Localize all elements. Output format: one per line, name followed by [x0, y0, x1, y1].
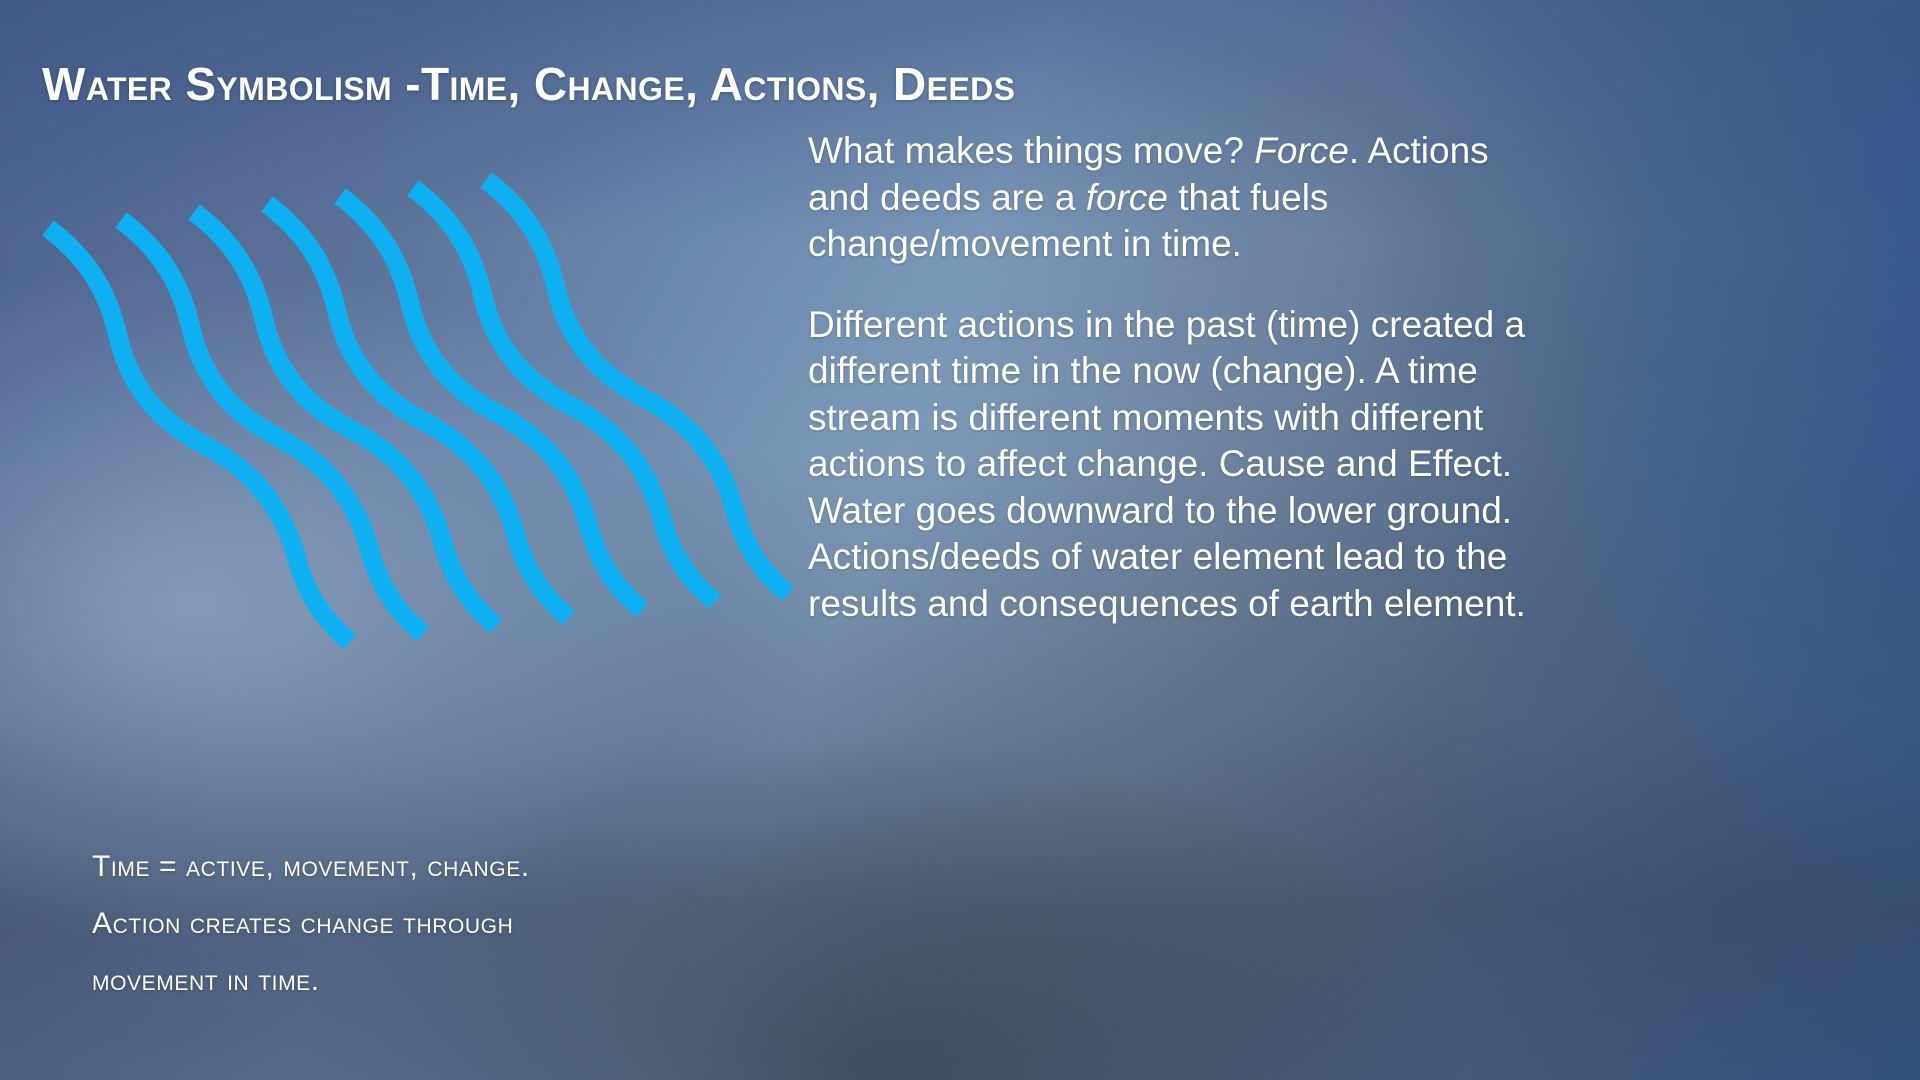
page-title: Water Symbolism -Time, Change, Actions, …: [42, 59, 1542, 110]
water-waves-icon: [0, 150, 820, 650]
water-waves-graphic: [0, 150, 820, 650]
body-paragraph-1: What makes things move? Force. Actions a…: [808, 128, 1538, 268]
caption-line-1: Time = active, movement, change.: [92, 838, 772, 895]
paragraph1-emphasis-force-2: force: [1086, 177, 1168, 218]
caption-block: Time = active, movement, change. Action …: [92, 838, 772, 1009]
body-paragraph-2: Different actions in the past (time) cre…: [808, 302, 1538, 628]
caption-line-3: movement in time.: [92, 952, 772, 1009]
paragraph1-emphasis-force: Force: [1254, 130, 1349, 171]
body-copy: What makes things move? Force. Actions a…: [808, 128, 1538, 627]
wave-line: [48, 228, 350, 642]
caption-line-2: Action creates change through: [92, 895, 772, 952]
paragraph1-before-emphasis: What makes things move?: [808, 130, 1254, 171]
paragraph-spacer: [808, 268, 1538, 302]
slide-canvas: Water Symbolism -Time, Change, Actions, …: [0, 0, 1920, 1080]
